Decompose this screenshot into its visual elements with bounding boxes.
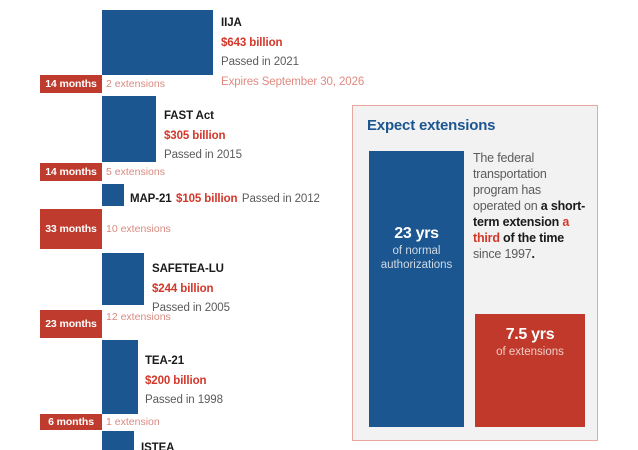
gap-row-5: 6 months 1 extension [40, 414, 240, 430]
panel-bar-extensions-caption: of extensions [475, 345, 585, 359]
act-amount: $643 billion [221, 37, 282, 49]
bar-map-21 [102, 184, 124, 206]
panel-title: Expect extensions [367, 117, 495, 134]
act-amount: $244 billion [152, 283, 213, 295]
panel-bar-extensions-text: 7.5 yrs of extensions [475, 326, 585, 359]
act-label-fast-act: FAST Act $305 billion Passed in 2015 [164, 105, 242, 164]
act-expires: Expires September 30, 2026 [221, 76, 364, 88]
gap-extensions-label: 1 extension [102, 414, 160, 430]
act-label-iija: IIJA $643 billion Passed in 2021 Expires… [221, 12, 364, 90]
bar-safetea-lu [102, 253, 144, 305]
act-label-istea: ISTEA [141, 437, 174, 450]
act-passed: Passed in 2021 [221, 56, 299, 68]
expect-extensions-panel: Expect extensions 23 yrs of normal autho… [352, 105, 598, 441]
panel-bar-extensions: 7.5 yrs of extensions [475, 314, 585, 427]
gap-duration-badge: 14 months [40, 163, 102, 181]
act-name: SAFETEA-LU [152, 263, 224, 275]
bar-iija [102, 10, 213, 75]
act-amount: $200 billion [145, 375, 206, 387]
bar-tea-21 [102, 340, 138, 414]
act-passed: Passed in 2015 [164, 149, 242, 161]
act-amount: $105 billion [176, 193, 237, 205]
act-name: FAST Act [164, 110, 214, 122]
panel-body-bold2: of the time [503, 231, 564, 245]
act-amount: $305 billion [164, 130, 225, 142]
bar-fast-act [102, 96, 156, 162]
gap-extensions-label: 10 extensions [102, 209, 171, 249]
gap-duration-badge: 14 months [40, 75, 102, 93]
gap-row-2: 14 months 5 extensions [40, 163, 240, 181]
panel-bar-extensions-value: 7.5 yrs [475, 326, 585, 344]
panel-bar-normal-caption: of normal authorizations [369, 244, 464, 272]
gap-extensions-label: 12 extensions [102, 310, 171, 338]
act-passed: Passed in 1998 [145, 394, 223, 406]
panel-body-part2: since 1997 [473, 247, 531, 261]
gap-duration-badge: 33 months [40, 209, 102, 249]
panel-bar-normal-value: 23 yrs [369, 225, 464, 243]
infographic-root: IIJA $643 billion Passed in 2021 Expires… [0, 0, 638, 450]
panel-body-period: . [531, 247, 534, 261]
gap-row-4: 23 months 12 extensions [40, 310, 240, 338]
panel-body-text: The federal transportation program has o… [473, 150, 589, 262]
gap-extensions-label: 5 extensions [102, 163, 165, 181]
gap-row-1: 14 months 2 extensions [40, 75, 240, 93]
gap-duration-badge: 23 months [40, 310, 102, 338]
gap-extensions-label: 2 extensions [102, 75, 165, 93]
panel-bar-normal-text: 23 yrs of normal authorizations [369, 225, 464, 272]
bar-istea [102, 431, 134, 450]
gap-row-3: 33 months 10 extensions [40, 209, 240, 249]
panel-bar-normal-authorizations: 23 yrs of normal authorizations [369, 151, 464, 427]
act-name: TEA-21 [145, 355, 184, 367]
panel-body-part1: The federal transportation program has o… [473, 151, 547, 213]
act-name: IIJA [221, 17, 242, 29]
act-passed: Passed in 2012 [242, 193, 320, 205]
act-label-safetea-lu: SAFETEA-LU $244 billion Passed in 2005 [152, 258, 230, 317]
act-name: MAP-21 [130, 193, 172, 205]
act-label-map-21: MAP-21 $105 billion Passed in 2012 [130, 188, 320, 208]
act-name: ISTEA [141, 442, 174, 450]
timeline-column: IIJA $643 billion Passed in 2021 Expires… [0, 0, 348, 450]
act-label-tea-21: TEA-21 $200 billion Passed in 1998 [145, 350, 223, 409]
gap-duration-badge: 6 months [40, 414, 102, 430]
